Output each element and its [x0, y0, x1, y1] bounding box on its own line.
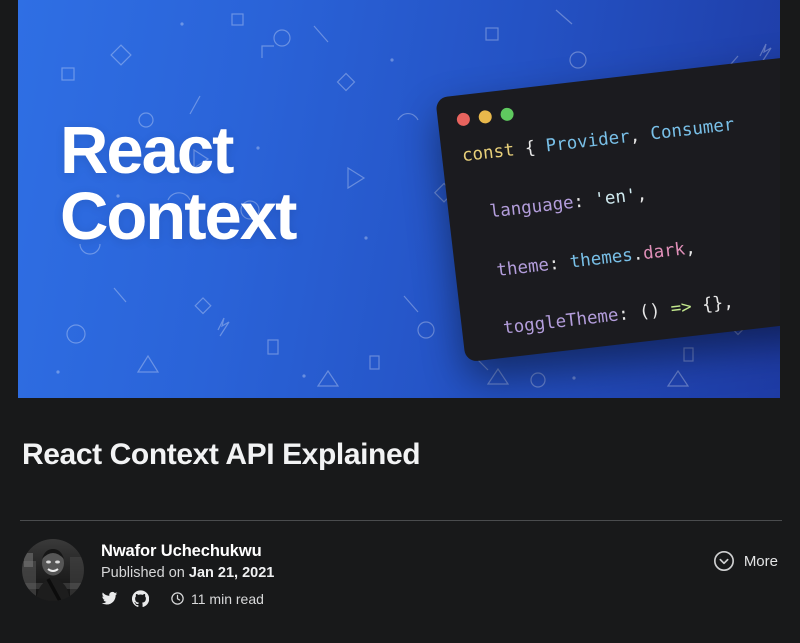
minimize-dot [478, 110, 492, 124]
cover-title: React Context [60, 118, 295, 249]
code-token [468, 202, 491, 224]
twitter-icon[interactable] [101, 590, 118, 607]
code-token [481, 319, 504, 341]
published-date: Jan 21, 2021 [189, 565, 274, 581]
code-token: : [572, 190, 595, 212]
published-line: Published on Jan 21, 2021 [101, 565, 782, 581]
code-token: Consumer [649, 115, 735, 145]
author-name[interactable]: Nwafor Uchechukwu [101, 542, 782, 561]
code-token: : [548, 252, 571, 274]
code-token: , [628, 125, 651, 147]
read-time: 11 min read [170, 591, 264, 607]
avatar[interactable] [22, 539, 84, 601]
more-button[interactable]: More [713, 550, 778, 572]
code-token: Provider [545, 127, 631, 157]
social-and-readtime-row: 11 min read [101, 590, 782, 607]
code-token: language [489, 193, 575, 223]
clock-icon [170, 591, 185, 606]
code-line: theme: themes.dark, [474, 216, 780, 288]
code-window: const { Provider, Consumer language: 'en… [435, 52, 780, 362]
code-token: const [461, 140, 516, 166]
code-token: : () [617, 300, 672, 326]
code-token: { [513, 137, 547, 161]
code-token: => [670, 297, 693, 319]
section-divider [20, 520, 782, 521]
code-token: {}, [691, 292, 735, 317]
code-token: , [684, 238, 697, 259]
article-page: React Context const { Provider, Consumer… [0, 0, 800, 643]
more-button-label: More [744, 553, 778, 570]
code-token: themes [569, 245, 634, 272]
code-snippet: const { Provider, Consumer language: 'en… [441, 99, 780, 362]
code-token: dark [642, 239, 686, 264]
code-token [474, 261, 497, 283]
maximize-dot [500, 107, 514, 121]
code-token: {}, [624, 359, 668, 362]
code-line: language: 'en', [467, 158, 780, 230]
code-token: , [635, 184, 648, 205]
chevron-down-icon [713, 550, 735, 572]
published-prefix: Published on [101, 565, 189, 581]
author-meta-row: Nwafor Uchechukwu Published on Jan 21, 2… [22, 539, 782, 607]
close-dot [456, 112, 470, 126]
read-time-label: 11 min read [191, 591, 264, 607]
code-token: toggleTheme [502, 306, 619, 339]
code-token: 'en' [593, 185, 637, 210]
author-meta-text: Nwafor Uchechukwu Published on Jan 21, 2… [101, 539, 782, 607]
article-cover-image: React Context const { Provider, Consumer… [18, 0, 780, 398]
code-token: theme [495, 255, 550, 281]
code-line: toggleTheme: () => {}, [481, 274, 780, 346]
github-icon[interactable] [132, 590, 149, 607]
page-title: React Context API Explained [22, 438, 420, 472]
